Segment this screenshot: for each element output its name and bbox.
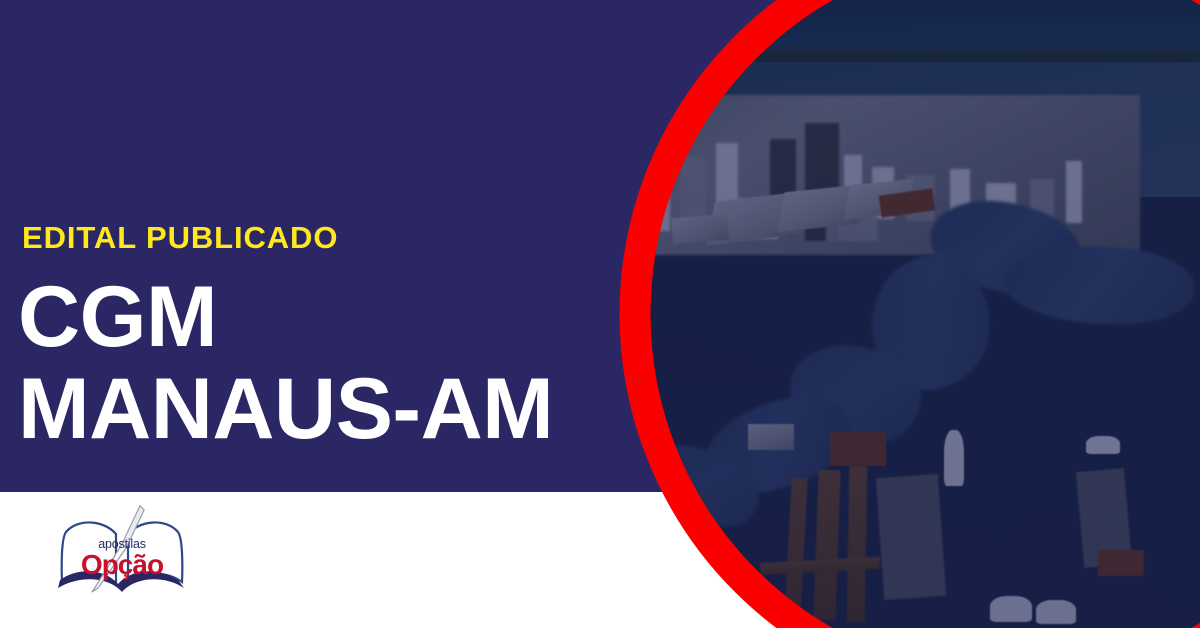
headline-block: EDITAL PUBLICADO CGM MANAUS-AM [22, 222, 553, 452]
page-title-line-1: CGM [18, 275, 553, 359]
kicker-label: EDITAL PUBLICADO [22, 222, 553, 253]
logo-brand-main: Opção [81, 549, 164, 580]
apostilas-opcao-logo[interactable]: apostilas Opção [52, 500, 192, 600]
page-title-line-2: MANAUS-AM [18, 367, 553, 451]
promo-banner: EDITAL PUBLICADO CGM MANAUS-AM apostilas… [0, 0, 1200, 628]
